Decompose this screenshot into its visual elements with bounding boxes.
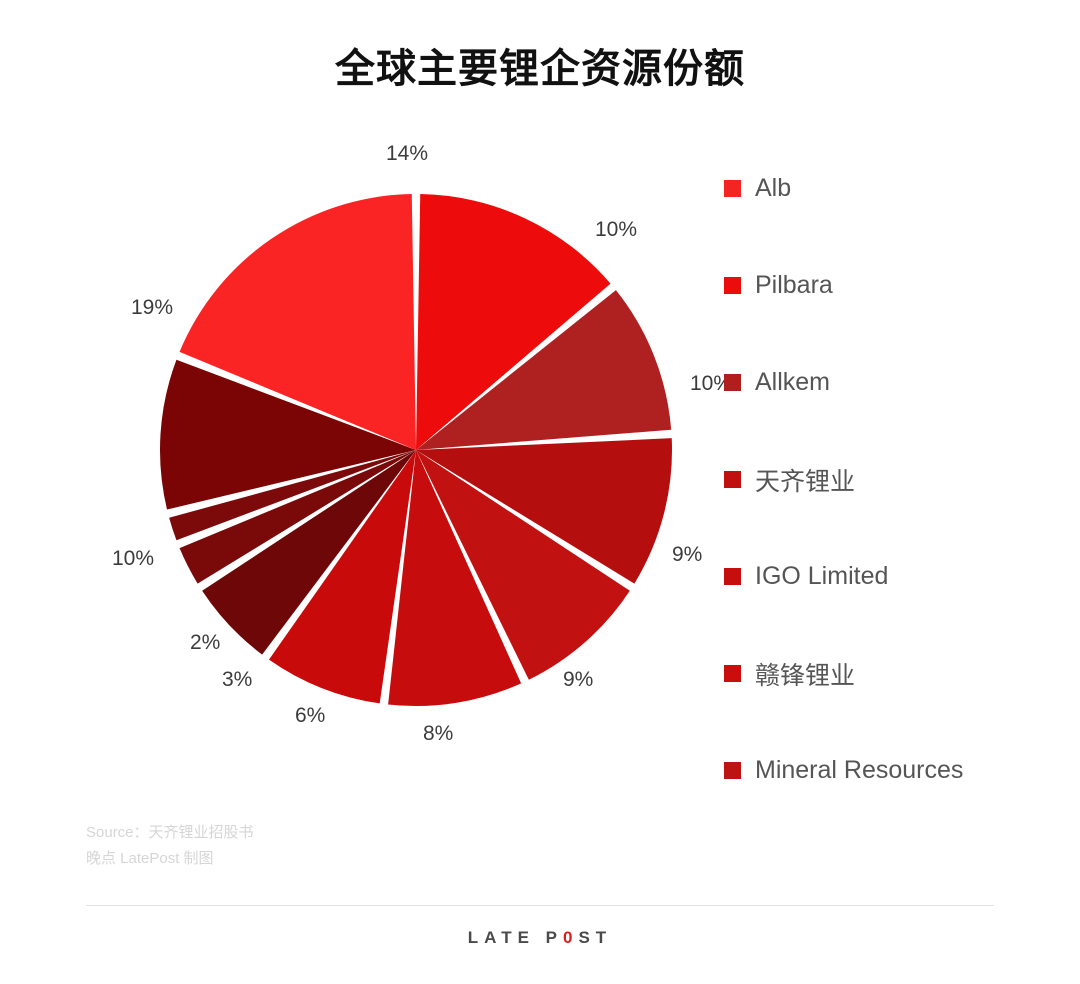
legend-item[interactable]: Allkem	[724, 334, 1064, 431]
latepost-watermark: LATE P0ST	[0, 928, 1080, 948]
legend-swatch-icon	[724, 374, 741, 391]
legend-swatch-icon	[724, 277, 741, 294]
pie-value-label: 2%	[190, 631, 220, 655]
legend-item-label: Pilbara	[755, 271, 833, 300]
pie-chart-svg	[100, 130, 760, 790]
legend-item-label: Mineral Resources	[755, 756, 963, 785]
source-line-1: Source：天齐锂业招股书	[86, 820, 254, 846]
watermark-text-post: ST	[578, 928, 612, 947]
chart-legend: AlbPilbaraAllkem天齐锂业IGO Limited赣锋锂业Miner…	[724, 140, 1064, 819]
legend-item-label: IGO Limited	[755, 562, 888, 591]
legend-swatch-icon	[724, 180, 741, 197]
legend-item-label: 赣锋锂业	[755, 656, 855, 692]
pie-value-label: 9%	[563, 668, 593, 692]
legend-item[interactable]: Alb	[724, 140, 1064, 237]
legend-item-label: Alb	[755, 174, 791, 203]
pie-slice-group	[160, 194, 672, 706]
watermark-text-pre: LATE P	[468, 928, 563, 947]
page-title: 全球主要锂企资源份额	[0, 36, 1080, 94]
pie-value-label: 19%	[131, 296, 173, 320]
legend-item[interactable]: 天齐锂业	[724, 431, 1064, 528]
legend-swatch-icon	[724, 762, 741, 779]
legend-item-label: 天齐锂业	[755, 462, 855, 498]
pie-value-label: 3%	[222, 668, 252, 692]
legend-item[interactable]: Mineral Resources	[724, 722, 1064, 819]
legend-item[interactable]: IGO Limited	[724, 528, 1064, 625]
pie-value-label: 14%	[386, 142, 428, 166]
legend-item[interactable]: 赣锋锂业	[724, 625, 1064, 722]
legend-swatch-icon	[724, 471, 741, 488]
legend-swatch-icon	[724, 568, 741, 585]
watermark-accent-o: 0	[563, 928, 578, 947]
footer-divider	[86, 905, 994, 906]
pie-value-label: 10%	[595, 218, 637, 242]
pie-value-label: 8%	[423, 722, 453, 746]
pie-value-label: 6%	[295, 704, 325, 728]
pie-chart	[100, 130, 760, 790]
pie-value-label: 10%	[112, 547, 154, 571]
source-line-2: 晚点 LatePost 制图	[86, 846, 254, 872]
legend-swatch-icon	[724, 665, 741, 682]
pie-value-label: 9%	[672, 543, 702, 567]
source-note: Source：天齐锂业招股书 晚点 LatePost 制图	[86, 820, 254, 873]
legend-item[interactable]: Pilbara	[724, 237, 1064, 334]
legend-item-label: Allkem	[755, 368, 830, 397]
